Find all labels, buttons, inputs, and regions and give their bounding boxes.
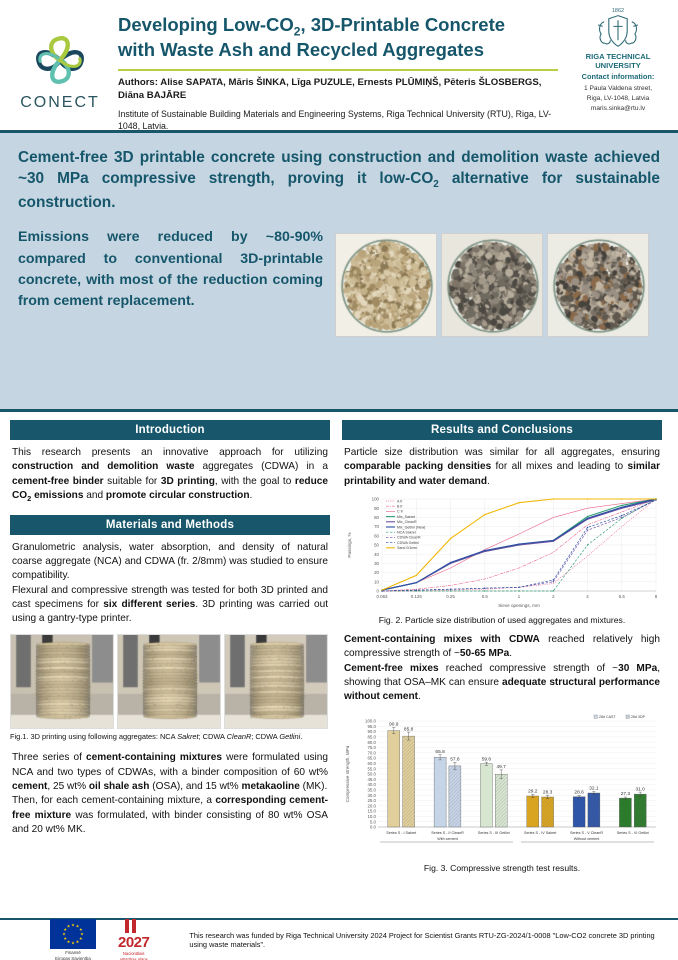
intro-b3: 3D printing — [161, 476, 215, 487]
nap-cap-l1: Nacionālais — [123, 951, 145, 956]
svg-text:Sieve openings, mm: Sieve openings, mm — [498, 603, 540, 608]
title-part2: , 3D-Printable Concrete — [300, 14, 505, 35]
rtu-address-l1: 1 Paula Valdena street, — [584, 85, 652, 92]
svg-text:50.0: 50.0 — [367, 771, 376, 776]
aggregate-photo-3 — [547, 233, 649, 337]
intro-b5: promote circular construction — [106, 490, 250, 501]
materials-paragraph-2: Flexural and compressive strength was te… — [12, 584, 328, 627]
affiliation-line: Institute of Sustainable Building Materi… — [118, 109, 558, 133]
svg-text:28.3: 28.3 — [543, 789, 553, 795]
svg-text:Without cement: Without cement — [574, 837, 600, 841]
intro-t1: This research presents an innovative app… — [12, 447, 328, 458]
title-block: Developing Low-CO2, 3D-Printable Concret… — [110, 6, 568, 130]
r3-t3: . — [418, 691, 421, 702]
f1c-i3: Getlini — [279, 732, 300, 741]
nap2027-logo: 2027 Nacionālais attīstības plāns — [118, 918, 149, 960]
svg-text:28d CAST: 28d CAST — [599, 715, 616, 719]
nap-caption: Nacionālais attīstības plāns — [120, 951, 148, 960]
svg-text:Series S - IV Sakret: Series S - IV Sakret — [524, 831, 556, 835]
svg-text:8: 8 — [655, 594, 658, 599]
svg-text:2: 2 — [552, 594, 555, 599]
f1c-i2: CleanR — [227, 732, 252, 741]
content-columns: Introduction This research presents an i… — [0, 412, 678, 912]
svg-text:10: 10 — [374, 579, 379, 584]
f1c-i1: Sakret — [177, 732, 198, 741]
poster-header: CONECT Developing Low-CO2, 3D-Printable … — [0, 0, 678, 130]
m4-t1: Then, for each cement-containing mixture… — [12, 795, 215, 806]
svg-text:40: 40 — [374, 552, 379, 557]
svg-text:30.0: 30.0 — [367, 792, 376, 797]
m3-b1: cement-containing mixtures — [86, 752, 222, 763]
rtu-email[interactable]: maris.sinka@rtu.lv — [591, 105, 645, 112]
svg-text:90.9: 90.9 — [389, 721, 399, 727]
section-header-introduction: Introduction — [10, 420, 330, 440]
title-divider — [118, 69, 558, 72]
rtu-name-l2: UNIVERSITY — [595, 61, 641, 70]
svg-text:Series S - I Sakret: Series S - I Sakret — [386, 831, 416, 835]
conect-flower-icon — [29, 29, 91, 91]
svg-text:75.0: 75.0 — [367, 745, 376, 750]
svg-text:55.0: 55.0 — [367, 766, 376, 771]
intro-b1: construction and demolition waste — [12, 461, 194, 472]
svg-text:100.0: 100.0 — [365, 718, 377, 723]
svg-text:A fr: A fr — [397, 499, 403, 503]
intro-b4b: emissions — [31, 490, 83, 501]
m3-t4: (OSA), and 15 wt% — [149, 781, 241, 792]
r2-b2: 50-65 MPa — [460, 648, 509, 659]
svg-text:4: 4 — [586, 594, 589, 599]
rtu-block: 1862 RIGA TECHNICAL UNIVERSITY Contact i… — [568, 6, 668, 130]
svg-text:Sand 0/1mm: Sand 0/1mm — [397, 546, 417, 550]
introduction-paragraph: This research presents an innovative app… — [12, 446, 328, 505]
rtu-name: RIGA TECHNICAL UNIVERSITY — [568, 52, 668, 70]
svg-text:10.0: 10.0 — [367, 814, 376, 819]
section-header-results: Results and Conclusions — [342, 420, 662, 440]
svg-text:0.125: 0.125 — [411, 594, 423, 599]
svg-text:0.5: 0.5 — [482, 594, 489, 599]
svg-text:70: 70 — [374, 524, 379, 529]
figure-3-caption: Fig. 3. Compressive strength test result… — [342, 863, 662, 873]
svg-text:90: 90 — [374, 506, 379, 511]
rtu-name-l1: RIGA TECHNICAL — [586, 52, 651, 61]
svg-text:30: 30 — [374, 561, 379, 566]
svg-text:0.063: 0.063 — [377, 594, 389, 599]
svg-text:85.0: 85.0 — [367, 734, 376, 739]
f1c-d: . — [300, 732, 302, 741]
svg-text:45.0: 45.0 — [367, 777, 376, 782]
print-photo-3 — [224, 634, 328, 729]
poster-footer: Finansē Eiropas Savienība 2027 Nacionāla… — [0, 918, 678, 960]
intro-t4: , with the goal to — [215, 476, 295, 487]
poster-root: CONECT Developing Low-CO2, 3D-Printable … — [0, 0, 678, 960]
printing-photos — [10, 634, 330, 729]
particle-size-distribution-plot: 01020304050607080901000.0630.1250.250.51… — [342, 495, 662, 613]
rtu-address-l2: Riga, LV-1048, Latvia — [587, 95, 650, 102]
r1-b1: comparable packing densities — [344, 461, 491, 472]
svg-text:0.25: 0.25 — [446, 594, 455, 599]
svg-text:70.0: 70.0 — [367, 750, 376, 755]
svg-text:Series S - VI Getlini: Series S - VI Getlini — [617, 831, 649, 835]
r1-t1: Particle size distribution was similar f… — [344, 447, 660, 458]
intro-t6: . — [250, 490, 253, 501]
nap-year: 2027 — [118, 934, 149, 951]
eu-cap-l2: Eiropas Savienība — [55, 956, 91, 960]
svg-text:0.0: 0.0 — [370, 824, 377, 829]
svg-text:31.0: 31.0 — [636, 786, 646, 792]
compressive-strength-bar-chart: 0.05.010.015.020.025.030.035.040.045.050… — [342, 711, 662, 861]
svg-text:50: 50 — [374, 543, 379, 548]
svg-text:Series S - III Getlini: Series S - III Getlini — [478, 831, 510, 835]
rtu-contact-heading: Contact information: — [568, 72, 668, 81]
m3-t5: (MK). — [300, 781, 327, 792]
title-line2: with Waste Ash and Recycled Aggregates — [118, 39, 484, 60]
figure-2-caption: Fig. 2. Particle size distribution of us… — [342, 615, 662, 625]
rtu-founding-year: 1862 — [568, 8, 668, 14]
svg-text:CDWA Getlini: CDWA Getlini — [397, 541, 419, 545]
print-photo-1 — [10, 634, 114, 729]
aggregate-photo-1 — [335, 233, 437, 337]
f1c-a: Fig.1. 3D printing using following aggre… — [10, 732, 177, 741]
svg-text:29.2: 29.2 — [528, 788, 538, 794]
left-column: Introduction This research presents an i… — [10, 420, 330, 912]
rtu-address: 1 Paula Valdena street, Riga, LV-1048, L… — [568, 84, 668, 114]
materials-paragraph-3: Three series of cement-containing mixtur… — [12, 751, 328, 794]
intro-t5: and — [83, 490, 105, 501]
r3-b2: 30 MPa — [618, 663, 657, 674]
svg-text:35.0: 35.0 — [367, 787, 376, 792]
r1-t3: . — [487, 476, 490, 487]
print-photo-2 — [117, 634, 221, 729]
svg-text:65.0: 65.0 — [367, 755, 376, 760]
eu-flag-icon — [50, 919, 96, 949]
section-header-materials: Materials and Methods — [10, 515, 330, 535]
banner-emissions-statement: Emissions were reduced by ~80-90% compar… — [18, 227, 323, 337]
m3-t1: Three series of — [12, 752, 86, 763]
title-part1: Developing Low-CO — [118, 14, 294, 35]
svg-text:Mix_CleanR: Mix_CleanR — [397, 520, 417, 524]
results-paragraph-3: Cement-free mixes reached compressive st… — [344, 662, 660, 705]
svg-text:5.6: 5.6 — [619, 594, 626, 599]
page-title: Developing Low-CO2, 3D-Printable Concret… — [118, 14, 558, 62]
svg-text:95.0: 95.0 — [367, 724, 376, 729]
svg-text:Series S - II CleanR: Series S - II CleanR — [431, 831, 464, 835]
r3-b1: Cement-free mixes — [344, 663, 439, 674]
r1-t2: for all mixes and leading to — [491, 461, 627, 472]
svg-text:65.8: 65.8 — [435, 749, 445, 755]
svg-text:28d 3DP: 28d 3DP — [631, 715, 646, 719]
r2-b1: Cement-containing mixes with CDWA — [344, 634, 540, 645]
svg-text:15.0: 15.0 — [367, 808, 376, 813]
svg-text:60: 60 — [374, 533, 379, 538]
svg-text:Mix_Sakret: Mix_Sakret — [397, 515, 415, 519]
eu-funding-caption: Finansē Eiropas Savienība — [48, 950, 98, 960]
f1c-b: ; CDWA — [199, 732, 227, 741]
intro-t2: aggregates (CDWA) in a — [194, 461, 328, 472]
r3-t1: reached compressive strength of ~ — [439, 663, 618, 674]
svg-text:25.0: 25.0 — [367, 798, 376, 803]
svg-text:57.6: 57.6 — [450, 756, 460, 762]
figure-3-chart: 0.05.010.015.020.025.030.035.040.045.050… — [342, 711, 662, 861]
figure-1-caption: Fig.1. 3D printing using following aggre… — [10, 732, 330, 741]
svg-text:Series S - V CleanR: Series S - V CleanR — [570, 831, 603, 835]
intro-t3: suitable for — [104, 476, 161, 487]
svg-text:60.0: 60.0 — [367, 761, 376, 766]
svg-text:Passings, %: Passings, % — [347, 532, 352, 557]
svg-text:27.3: 27.3 — [621, 791, 631, 797]
svg-text:Compressive strength, MPa: Compressive strength, MPa — [345, 745, 350, 802]
authors-line: Authors: Alise SAPATA, Māris ŠINKA, Līga… — [118, 77, 558, 103]
right-column: Results and Conclusions Particle size di… — [342, 420, 662, 912]
nap-bars-icon — [121, 918, 147, 934]
conect-wordmark: CONECT — [20, 94, 100, 112]
materials-paragraph-4: Then, for each cement-containing mixture… — [12, 794, 328, 837]
svg-text:B fr: B fr — [397, 504, 403, 508]
m3-b4: metakaoline — [241, 781, 299, 792]
banner-lower-row: Emissions were reduced by ~80-90% compar… — [18, 227, 660, 337]
results-paragraph-1: Particle size distribution was similar f… — [344, 446, 660, 489]
svg-text:Mix_Getlini (New): Mix_Getlini (New) — [397, 525, 425, 529]
svg-text:NCA Sakret: NCA Sakret — [397, 530, 416, 534]
eu-funding-logo: Finansē Eiropas Savienība — [48, 919, 98, 960]
svg-text:CDWA CleanR: CDWA CleanR — [397, 536, 421, 540]
intro-b2: cement-free binder — [12, 476, 104, 487]
svg-text:C fr: C fr — [397, 510, 404, 514]
svg-text:20.0: 20.0 — [367, 803, 376, 808]
nap-cap-l2: attīstības plāns — [120, 957, 148, 960]
svg-text:80: 80 — [374, 515, 379, 520]
svg-text:80.0: 80.0 — [367, 739, 376, 744]
svg-text:20: 20 — [374, 570, 379, 575]
svg-text:5.0: 5.0 — [370, 819, 377, 824]
funding-statement: This research was funded by Riga Technic… — [189, 931, 668, 949]
conect-logo: CONECT — [10, 6, 110, 130]
mat-b1: six different series — [103, 599, 195, 610]
svg-text:28.6: 28.6 — [574, 789, 584, 795]
aggregate-photos — [335, 233, 649, 337]
aggregate-photo-2 — [441, 233, 543, 337]
figure-2-chart: 01020304050607080901000.0630.1250.250.51… — [342, 495, 662, 613]
r2-t2: . — [509, 648, 512, 659]
m3-b2: cement — [12, 781, 47, 792]
svg-text:40.0: 40.0 — [367, 782, 376, 787]
svg-text:With cement: With cement — [437, 837, 458, 841]
svg-text:59.6: 59.6 — [482, 756, 492, 762]
eu-cap-l1: Finansē — [65, 950, 81, 955]
rtu-crest-icon — [595, 11, 641, 51]
banner-lead-statement: Cement-free 3D printable concrete using … — [18, 147, 660, 213]
svg-text:49.7: 49.7 — [497, 764, 507, 770]
results-paragraph-2: Cement-containing mixes with CDWA reache… — [344, 633, 660, 662]
svg-text:90.0: 90.0 — [367, 729, 376, 734]
m3-t3: , 25 wt% — [47, 781, 89, 792]
svg-text:100: 100 — [372, 497, 380, 502]
svg-text:32.1: 32.1 — [589, 785, 599, 791]
highlight-banner: Cement-free 3D printable concrete using … — [0, 130, 678, 412]
svg-text:1: 1 — [518, 594, 521, 599]
m3-b3: oil shale ash — [89, 781, 150, 792]
svg-text:0: 0 — [377, 589, 380, 594]
materials-paragraph-1: Granulometric analysis, water absorption… — [12, 541, 328, 584]
f1c-c: ; CDWA — [251, 732, 279, 741]
svg-text:85.8: 85.8 — [404, 726, 414, 732]
